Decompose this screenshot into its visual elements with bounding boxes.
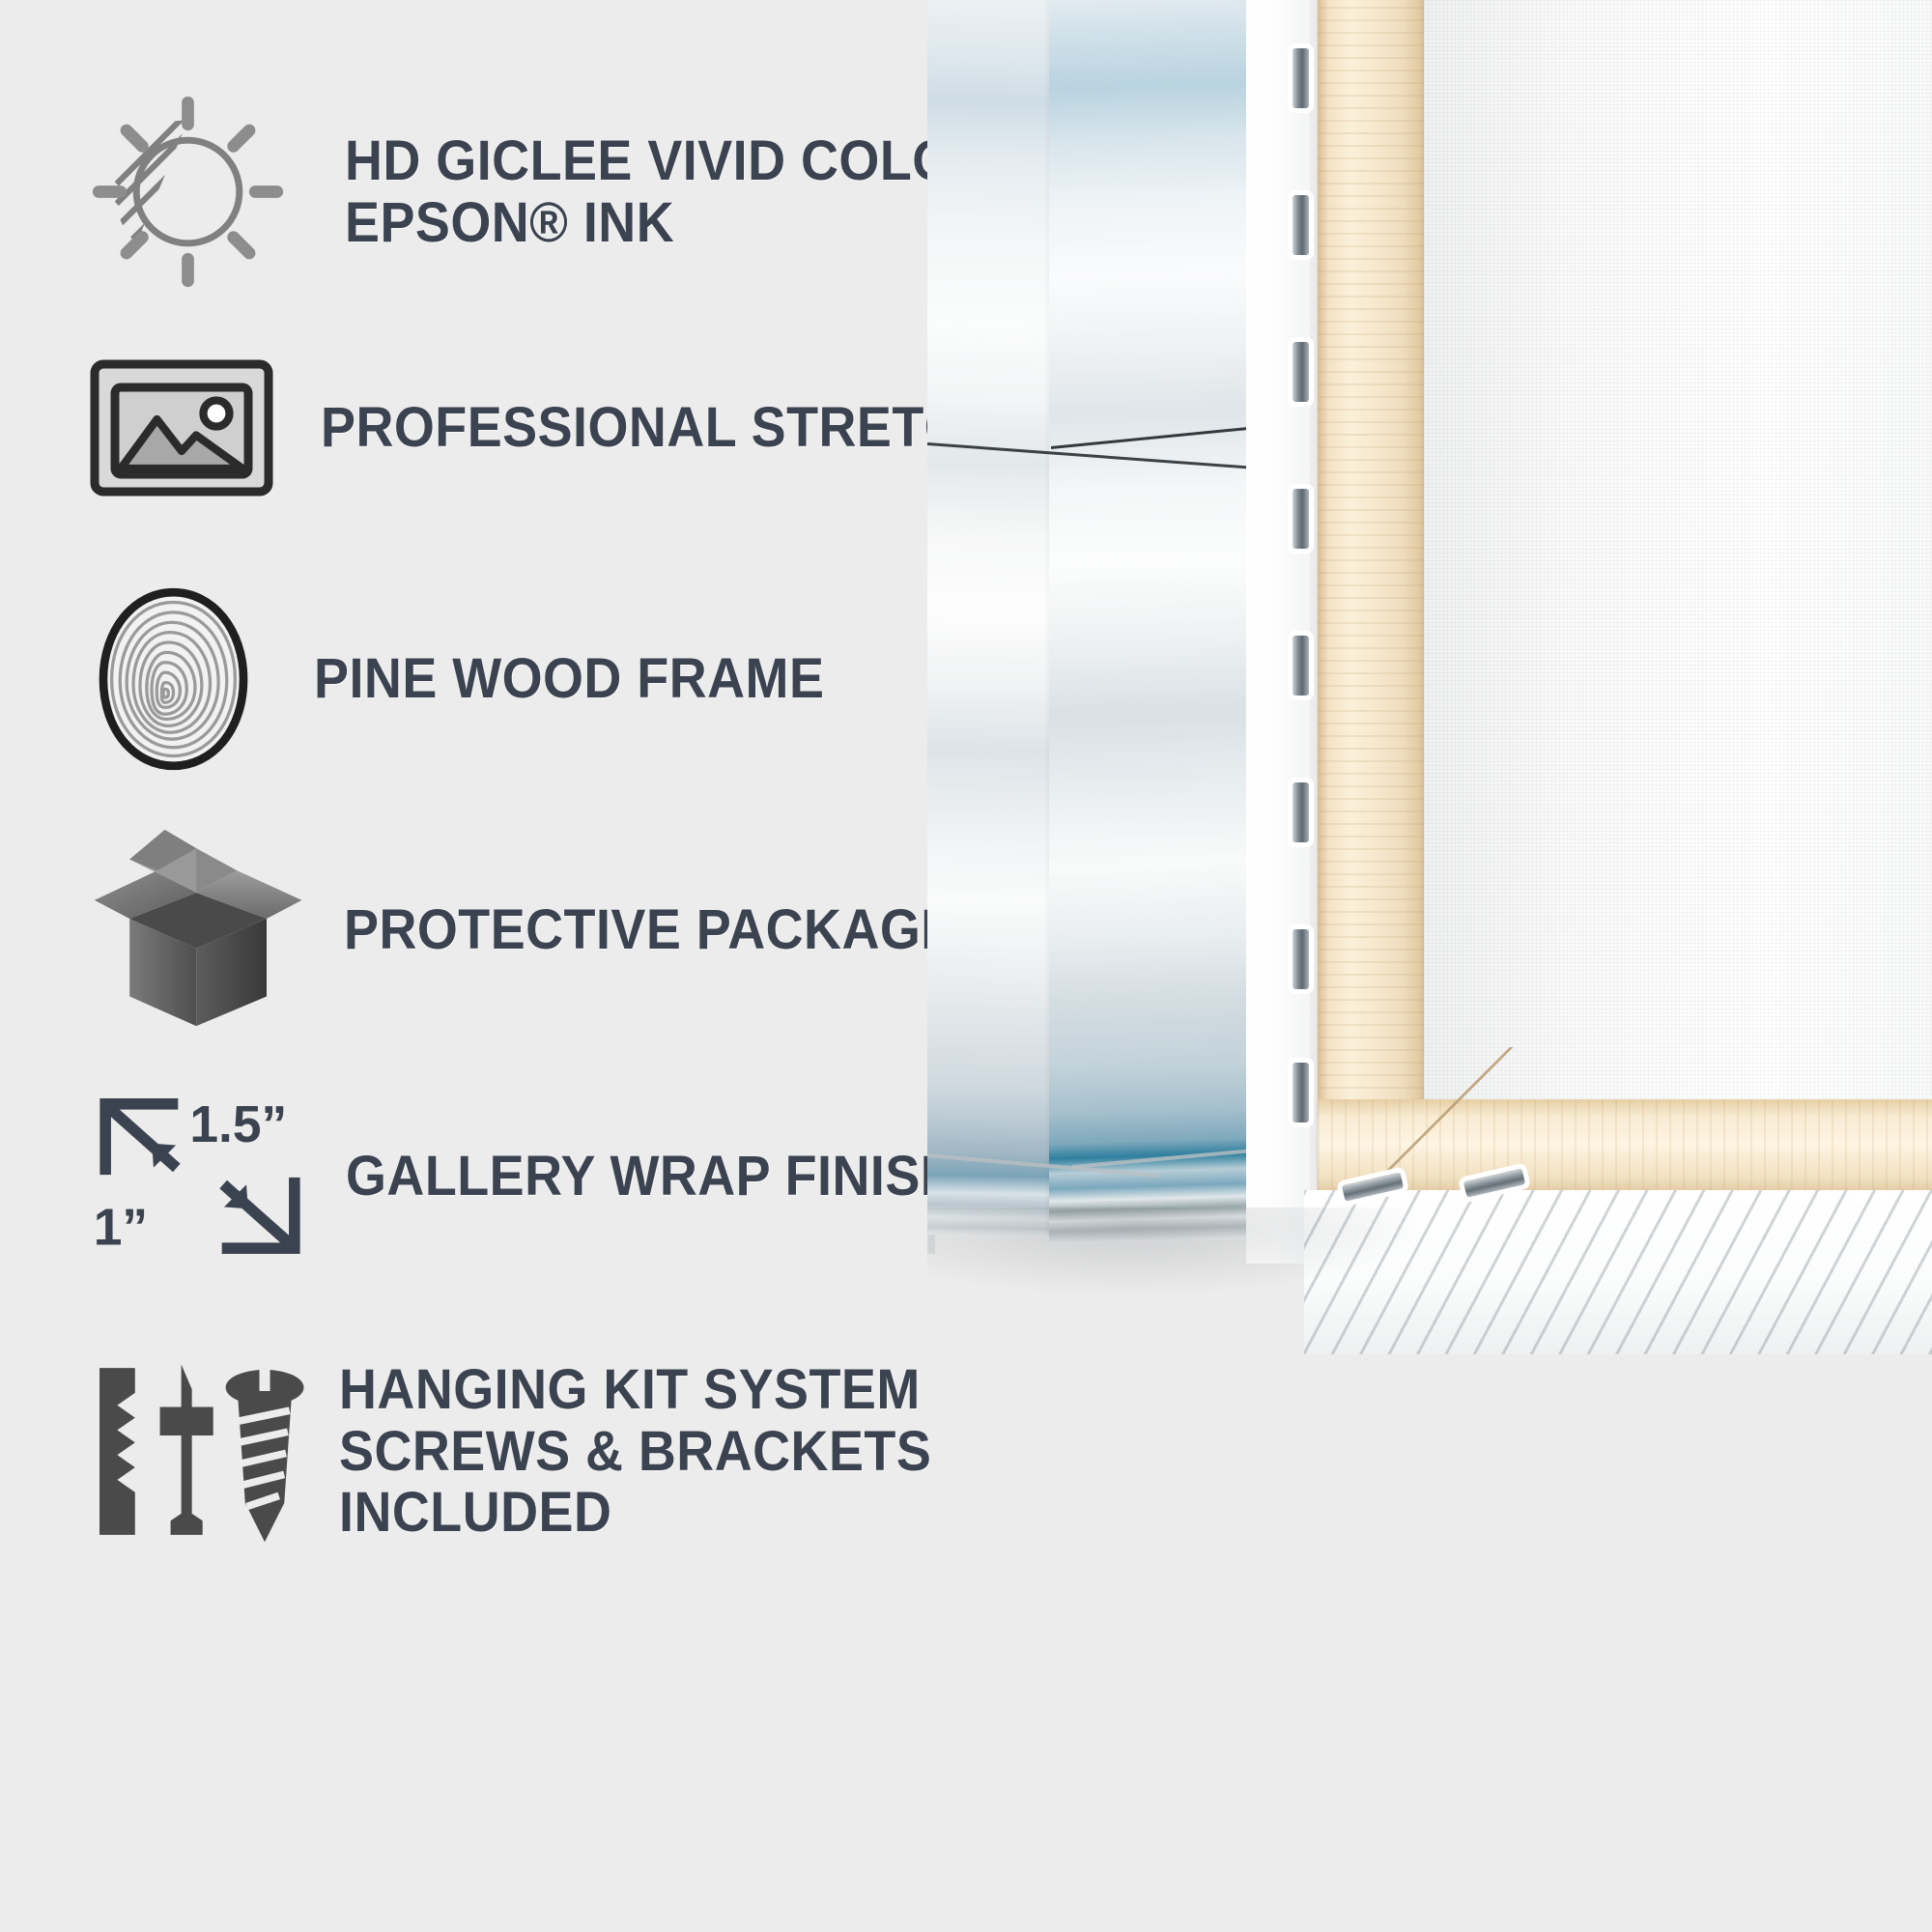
pine-stretcher-bar-vertical <box>1318 0 1426 1225</box>
raw-canvas-back <box>1424 0 1932 1225</box>
canvas-corner-photo <box>927 0 1932 1573</box>
feature-label: PROTECTIVE PACKAGING <box>344 899 1015 961</box>
hanging-hardware-icon <box>89 1357 309 1546</box>
feature-label: GALLERY WRAP FINISH <box>346 1146 958 1207</box>
feature-row-gallery-wrap-finish: 1.5” 1” GALLERY WRAP FINISH <box>89 1087 1005 1265</box>
photo-bottom-shadow <box>927 1207 1420 1294</box>
canvas-wrapped-side <box>1049 0 1254 1244</box>
picture-frame-icon <box>89 355 274 500</box>
open-box-icon <box>89 826 311 1034</box>
infographic-canvas: HD GICLEE VIVID COLORS EPSON® INK PROFES… <box>0 0 1932 1932</box>
sun-icon <box>89 93 287 291</box>
feature-row-pine-wood-frame: PINE WOOD FRAME <box>89 587 863 771</box>
canvas-front-edge <box>927 0 1051 1236</box>
feature-label: HD GICLEE VIVID COLORS EPSON® INK <box>345 130 1027 254</box>
depth-top-label: 1.5” <box>189 1096 287 1153</box>
depth-arrows-icon: 1.5” 1” <box>89 1087 311 1265</box>
depth-bottom-label: 1” <box>94 1200 148 1257</box>
feature-label: PINE WOOD FRAME <box>314 648 824 710</box>
wood-rings-icon <box>89 587 258 771</box>
feature-row-protective-packaging: PROTECTIVE PACKAGING <box>89 826 1065 1034</box>
